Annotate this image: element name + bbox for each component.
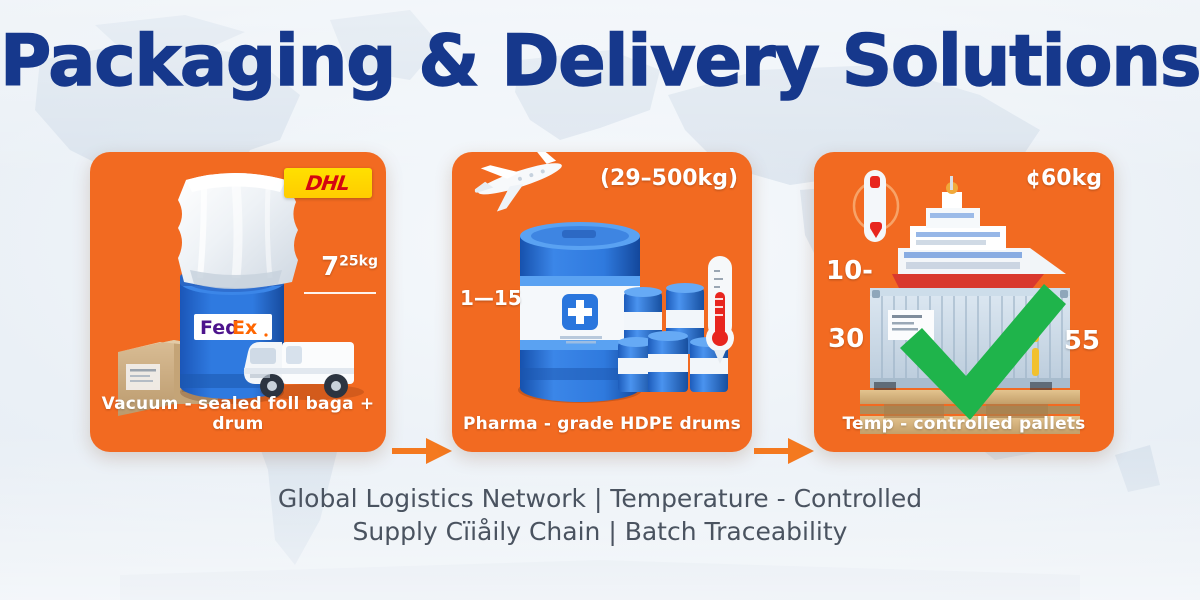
tagline-line-1: Global Logistics Network | Temperature -… <box>0 482 1200 515</box>
delivery-truck-icon <box>244 342 364 400</box>
range-label-card-3: ¢60kg <box>1026 166 1102 191</box>
card-caption-3: Temp - controlled pallets <box>814 414 1114 434</box>
temp-label-bottom-card-3: 30 <box>828 324 864 354</box>
card-temp-pallets[interactable]: ¢60kg 10- 30 55 Temp - controlled pallet… <box>814 152 1114 452</box>
temp-label-top-card-3: 10- <box>826 256 873 286</box>
cargo-ship-icon <box>892 176 1066 294</box>
weight-label-card-1: 725kg <box>321 252 378 282</box>
footer-tagline: Global Logistics Network | Temperature -… <box>0 482 1200 548</box>
flow-arrow-1 <box>392 434 454 468</box>
tagline-line-2: Supply Cïiåily Chain | Batch Traceabilit… <box>0 515 1200 548</box>
card-vacuum-sealed[interactable]: Fed Ex <box>90 152 386 452</box>
card-caption-1: Vacuum - sealed foll baga + drum <box>90 394 386 434</box>
airplane-icon <box>469 152 569 216</box>
weight-value: 7 <box>321 252 339 282</box>
dhl-logo-text: DHL <box>305 171 351 195</box>
weight-unit: 25kg <box>339 253 378 269</box>
thermometer-icon <box>706 256 734 364</box>
flow-arrow-2 <box>754 434 816 468</box>
cards-row: Fed Ex <box>0 152 1200 452</box>
card-caption-2: Pharma - grade HDPE drums <box>452 414 752 434</box>
dhl-logo-icon: DHL <box>284 168 372 198</box>
svg-text:Ex: Ex <box>232 317 257 339</box>
page-title: Packaging & Delivery Solutions <box>0 22 1200 100</box>
card-hdpe-drums[interactable]: (29–500kg) 1—15 Pharma - grade HDPE drum… <box>452 152 752 452</box>
thermometer-icon <box>854 170 898 242</box>
temp-label-right-card-3: 55 <box>1064 326 1100 356</box>
range-label-card-2: (29–500kg) <box>600 166 738 191</box>
side-label-card-2: 1—15 <box>460 286 522 310</box>
card-3-illustration <box>814 152 1114 452</box>
weight-underline <box>304 292 376 294</box>
foil-bag-icon <box>178 173 298 289</box>
